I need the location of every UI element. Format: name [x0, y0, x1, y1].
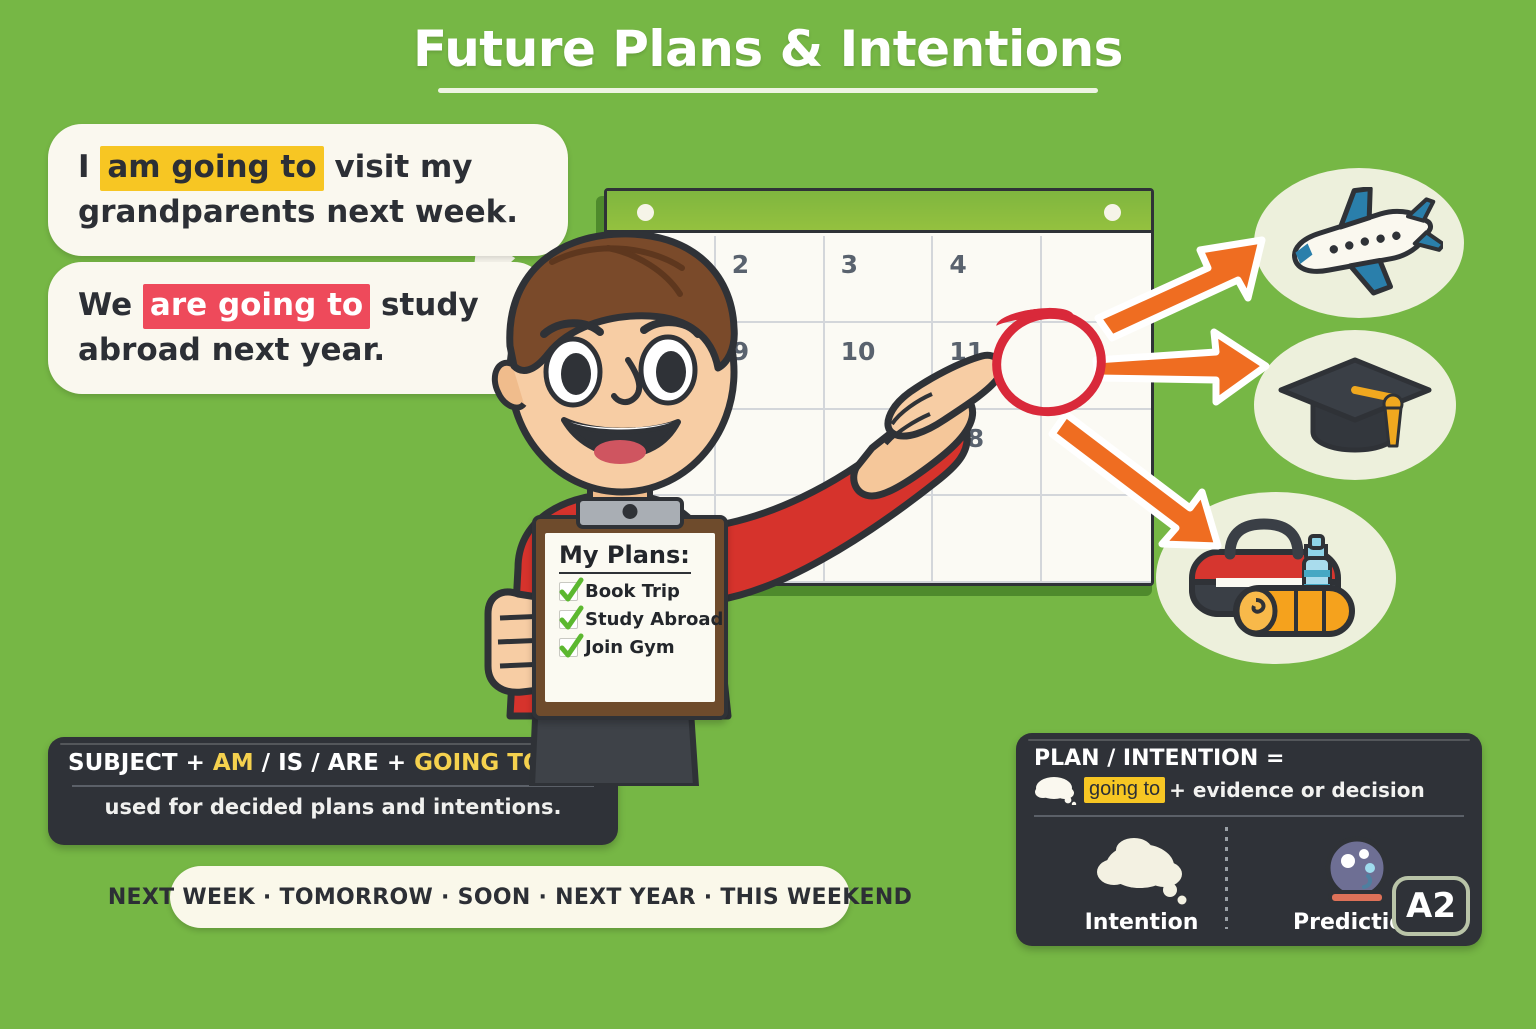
intention-column: Intention [1034, 823, 1249, 935]
intention-label: Intention [1085, 910, 1199, 935]
speech-bubble-1-line-1: I am going to visit my [78, 146, 538, 191]
formula-am: AM [213, 750, 254, 776]
clipboard-title: My Plans: [559, 543, 709, 567]
gym-bag-icon [1178, 512, 1374, 644]
clipboard-item-label: Study Abroad [585, 611, 723, 629]
bubble-1-prefix: I [78, 149, 90, 185]
formula-subject: SUBJECT [68, 750, 178, 776]
formula-are: ARE [328, 750, 379, 776]
graduation-cap-icon [1275, 346, 1435, 464]
right-panel-going-to-highlight: going to [1084, 777, 1165, 803]
clipboard-title-rule [559, 572, 691, 574]
formula-is: IS [278, 750, 303, 776]
my-plans-clipboard: My Plans: Book TripStudy AbroadJoin Gym [532, 515, 728, 720]
thought-bubble-icon [1090, 836, 1194, 906]
airplane-icon [1275, 187, 1443, 299]
bubble-1-highlight: am going to [100, 146, 323, 191]
right-panel-title: PLAN / INTENTION = [1034, 747, 1464, 771]
gym-bag-icon-badge [1156, 492, 1396, 664]
graduation-cap-icon-badge [1254, 330, 1456, 480]
clipboard-item-label: Book Trip [585, 583, 680, 601]
formula-plus-1: + [186, 750, 205, 776]
right-panel-formula-row: going to + evidence or decision [1034, 775, 1464, 805]
formula-subtitle: used for decided plans and intentions. [68, 796, 598, 819]
checkmark-icon[interactable] [559, 582, 578, 601]
plan-intention-panel: PLAN / INTENTION = going to + evidence o… [1016, 733, 1482, 946]
formula-plus-2: + [387, 750, 406, 776]
checkmark-icon[interactable] [559, 610, 578, 629]
formula-slash-2: / [311, 750, 319, 776]
crystal-ball-icon [1314, 834, 1400, 906]
page-header: Future Plans & Intentions [0, 24, 1536, 93]
clipboard-clamp-icon [576, 497, 684, 529]
thought-bubble-small-icon [1034, 775, 1080, 805]
calendar-cell [1042, 496, 1151, 583]
right-panel-sheen [1028, 739, 1470, 741]
bubble-1-suffix: visit my [334, 149, 472, 185]
formula-slash-1: / [262, 750, 270, 776]
level-badge: A2 [1392, 876, 1470, 936]
checkmark-icon[interactable] [559, 638, 578, 657]
clipboard-item-label: Join Gym [585, 639, 675, 657]
title-underline [438, 88, 1098, 93]
right-panel-suffix: + evidence or decision [1169, 778, 1425, 802]
clipboard-item[interactable]: Join Gym [559, 638, 709, 657]
bubble-2-prefix: We [78, 287, 132, 323]
time-expressions-text: NEXT WEEK · TOMORROW · SOON · NEXT YEAR … [108, 885, 912, 910]
calendar-cell [1042, 410, 1151, 497]
right-panel-divider [1034, 815, 1464, 817]
comparison-divider [1225, 827, 1228, 929]
bubble-2-highlight: are going to [143, 284, 370, 329]
clipboard-item[interactable]: Book Trip [559, 582, 709, 601]
calendar-hole-right-icon [1104, 204, 1121, 221]
airplane-icon-badge [1254, 168, 1464, 318]
infographic-root: Future Plans & Intentions I am going to … [0, 0, 1536, 1024]
clipboard-item-list: Book TripStudy AbroadJoin Gym [559, 582, 709, 657]
time-expressions-pill: NEXT WEEK · TOMORROW · SOON · NEXT YEAR … [170, 866, 850, 928]
page-title: Future Plans & Intentions [0, 24, 1536, 74]
clipboard-item[interactable]: Study Abroad [559, 610, 709, 629]
clipboard-paper: My Plans: Book TripStudy AbroadJoin Gym [545, 533, 715, 702]
